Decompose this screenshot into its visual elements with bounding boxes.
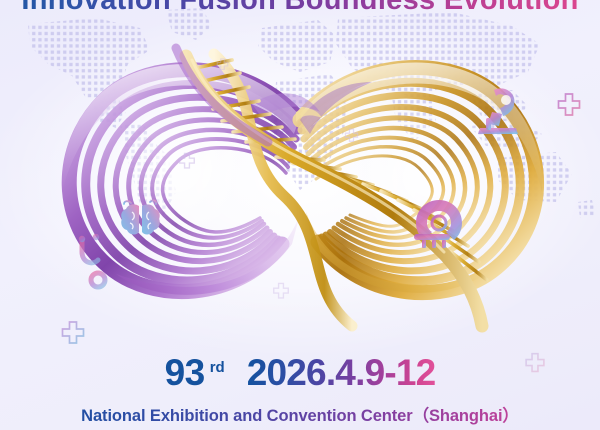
- event-venue: National Exhibition and Convention Cente…: [0, 402, 600, 426]
- page-title: Innovation Fusion Boundless Evolution: [0, 0, 600, 17]
- conference-poster: Innovation Fusion Boundless Evolution 93…: [0, 0, 600, 430]
- edition-ordinal-suffix: rd: [210, 359, 225, 376]
- stethoscope-icon: [72, 234, 116, 290]
- event-date: 2026.4.9-12: [247, 354, 436, 391]
- ct-scanner-icon: [412, 198, 468, 250]
- microscope-icon: [472, 84, 524, 140]
- event-info-block: 93 rd 2026.4.9-12 National Exhibition an…: [0, 354, 600, 426]
- brain-icon: [118, 196, 164, 240]
- edition-number: 93: [165, 354, 205, 391]
- edition-and-date-line: 93 rd 2026.4.9-12: [0, 354, 600, 400]
